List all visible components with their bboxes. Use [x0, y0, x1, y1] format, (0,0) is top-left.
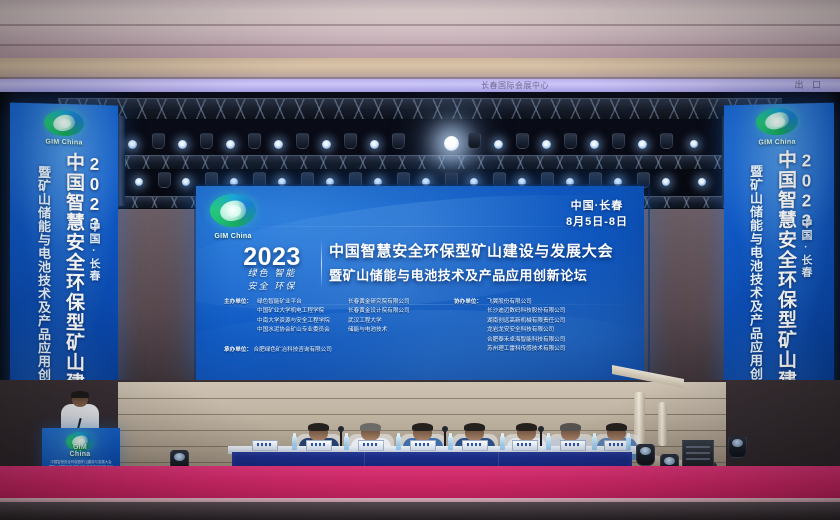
stage-light [135, 178, 143, 186]
side-banner-left: GIM China 2023 中国·长春 中国智慧安全环保型矿山建设与发展大会 … [10, 102, 118, 405]
screen-city: 中国·长春 [566, 198, 628, 214]
water-bottle [396, 436, 401, 450]
screen-slogan-line1: 绿色 智能 [226, 268, 318, 281]
host-label: 主办单位： [224, 298, 252, 307]
organizer-block: 主办单位： 绿色智能矿业平台 中国矿业大学机电工程学院 中南大学资源与安全工程学… [196, 296, 644, 376]
table-microphone [540, 430, 542, 446]
water-bottle [344, 436, 349, 450]
floor-moving-light [728, 436, 747, 458]
stage-light [542, 140, 551, 149]
moving-head-light [468, 133, 481, 149]
gim-logo-wordmark: GIM China [66, 444, 94, 458]
moving-head-light [564, 133, 577, 149]
conference-stage-photo: 长春国际会展中心 出 口 [0, 0, 840, 520]
gim-china-logo-left: GIM China [44, 109, 84, 146]
host-item: 中国水泥协会矿山专业委员会 [257, 326, 330, 335]
host-item: 武汉工程大学 [348, 317, 410, 326]
moving-head-light [152, 133, 165, 149]
banner-right-city: 中国·长春 [798, 217, 814, 278]
stage-light [128, 140, 137, 149]
co-organizer-item: 湖南创远高新机械有限责任公司 [487, 317, 565, 326]
moving-head-light [612, 133, 625, 149]
screen-slogan: 绿色 智能 安全 环保 [226, 268, 318, 294]
banner-right-title: 中国智慧安全环保型矿山建设与发展大会 [772, 150, 799, 412]
co-organizer-item: 飞翼股份有限公司 [487, 298, 565, 307]
name-plate [462, 440, 488, 451]
host-column-2: 长春黄金研究院有限公司 长春黄金设计院有限公司 武汉工程大学 储能与电池技术 [348, 298, 410, 336]
water-bottle [292, 436, 297, 450]
moving-head-light [516, 133, 529, 149]
ceiling-cornice [0, 58, 840, 80]
co-organizer-column: 协办单位： [454, 298, 482, 307]
gim-logo-mark [210, 194, 256, 227]
table-microphone [444, 430, 446, 446]
undertaker-label: 承办单位： [224, 347, 252, 353]
undertaker-row: 承办单位： 合肥绿色矿冶科技咨询有限公司 [224, 346, 332, 355]
conference-subtitle: 暨矿山储能与电池技术及产品应用创新论坛 [329, 265, 629, 284]
standing-speaker [60, 392, 100, 432]
moving-head-light [248, 133, 261, 149]
host-item: 绿色智能矿业平台 [257, 298, 330, 307]
stage-light [322, 140, 331, 149]
conference-title: 中国智慧安全环保型矿山建设与发展大会 [329, 240, 629, 261]
main-led-screen: GIM China 中国·长春 8月5日-8日 2023 绿色 智能 安全 环保… [196, 186, 644, 380]
water-bottle [592, 436, 597, 450]
gim-logo-wordmark: GIM China [210, 233, 256, 240]
stage-light [638, 140, 647, 149]
host-column-1: 主办单位： [224, 298, 252, 307]
host-item: 中国矿业大学机电工程学院 [257, 307, 330, 316]
moving-head-light [200, 133, 213, 149]
stage-light [494, 140, 503, 149]
stage-light [590, 140, 599, 149]
name-plate [560, 440, 586, 451]
moving-head-light [296, 133, 309, 149]
host-item: 长春黄金研究院有限公司 [348, 298, 410, 307]
stage-light [370, 140, 379, 149]
host-item: 储能与电池技术 [348, 326, 410, 335]
back-wall-left [118, 200, 198, 382]
stage-light [178, 140, 187, 149]
gim-china-logo-podium: GIM China [66, 432, 94, 458]
banner-right-subtitle: 暨矿山储能与电池技术及产品应用创新论坛 [746, 164, 765, 411]
co-organizer-item: 苏州理工雷科传感技术有限公司 [487, 345, 565, 354]
host-column-1-items: 绿色智能矿业平台 中国矿业大学机电工程学院 中南大学资源与安全工程学院 中国水泥… [257, 298, 330, 336]
co-organizer-item: 合肥泰禾卓海智能科技有限公司 [487, 336, 565, 345]
stage-light [662, 178, 670, 186]
floor-moving-light [636, 444, 655, 466]
co-organizer-label: 协办单位： [454, 298, 482, 307]
gim-logo-wordmark: GIM China [44, 138, 84, 146]
side-banner-right: GIM China 2023 中国·长春 中国智慧安全环保型矿山建设与发展大会 … [724, 103, 834, 412]
stage-light [698, 178, 706, 186]
equipment-rack [682, 440, 714, 468]
gim-logo-mark [44, 109, 84, 136]
moving-head-light [344, 133, 357, 149]
water-bottle [626, 436, 631, 450]
name-plate [252, 440, 278, 451]
gim-china-logo-screen: GIM China [210, 194, 256, 240]
truss-upper [58, 98, 782, 120]
stage-front-edge [0, 502, 840, 520]
host-item: 长春黄金设计院有限公司 [348, 307, 410, 316]
water-bottle [500, 436, 505, 450]
stage-light [690, 140, 698, 148]
undertaker-name: 合肥绿色矿冶科技咨询有限公司 [254, 347, 332, 353]
water-bottle [546, 436, 551, 450]
banner-left-subtitle: 暨矿山储能与电池技术及产品应用创新论坛 [34, 165, 53, 405]
moving-head-light [660, 133, 673, 149]
stage-light-bright [444, 136, 459, 151]
moving-head-light [158, 172, 171, 188]
screen-dates: 8月5日-8日 [566, 214, 628, 230]
screen-city-date: 中国·长春 8月5日-8日 [566, 198, 628, 230]
water-bottle [448, 436, 453, 450]
co-organizer-items: 飞翼股份有限公司 长沙迪迈数码科技股份有限公司 湖南创远高新机械有限责任公司 龙… [487, 298, 565, 354]
back-wall-right [642, 200, 726, 382]
table-microphone [340, 430, 342, 446]
gim-china-logo-right: GIM China [756, 108, 798, 147]
screen-divider [321, 240, 322, 288]
exit-sign-glyphs: 出 口 [794, 80, 824, 91]
led-strip-text: 长春国际会展中心 [400, 80, 630, 91]
name-plate [306, 440, 332, 451]
name-plate [410, 440, 436, 451]
gim-logo-wordmark: GIM China [756, 139, 798, 147]
name-plate [512, 440, 538, 451]
banner-left-title: 中国智慧安全环保型矿山建设与发展大会 [60, 152, 87, 406]
moving-head-light [392, 133, 405, 149]
co-organizer-item: 长沙迪迈数码科技股份有限公司 [487, 307, 565, 316]
gim-logo-mark [756, 108, 798, 136]
truss-middle [100, 155, 740, 170]
name-plate [358, 440, 384, 451]
screen-slogan-line2: 安全 环保 [226, 281, 318, 294]
stage-light [182, 178, 190, 186]
host-item: 中南大学资源与安全工程学院 [257, 317, 330, 326]
stage-light [226, 140, 235, 149]
stage-light [274, 140, 283, 149]
co-organizer-item: 龙岩龙安安全科技有限公司 [487, 326, 565, 335]
ceiling [0, 0, 840, 62]
banner-left-city: 中国·长春 [86, 221, 102, 282]
